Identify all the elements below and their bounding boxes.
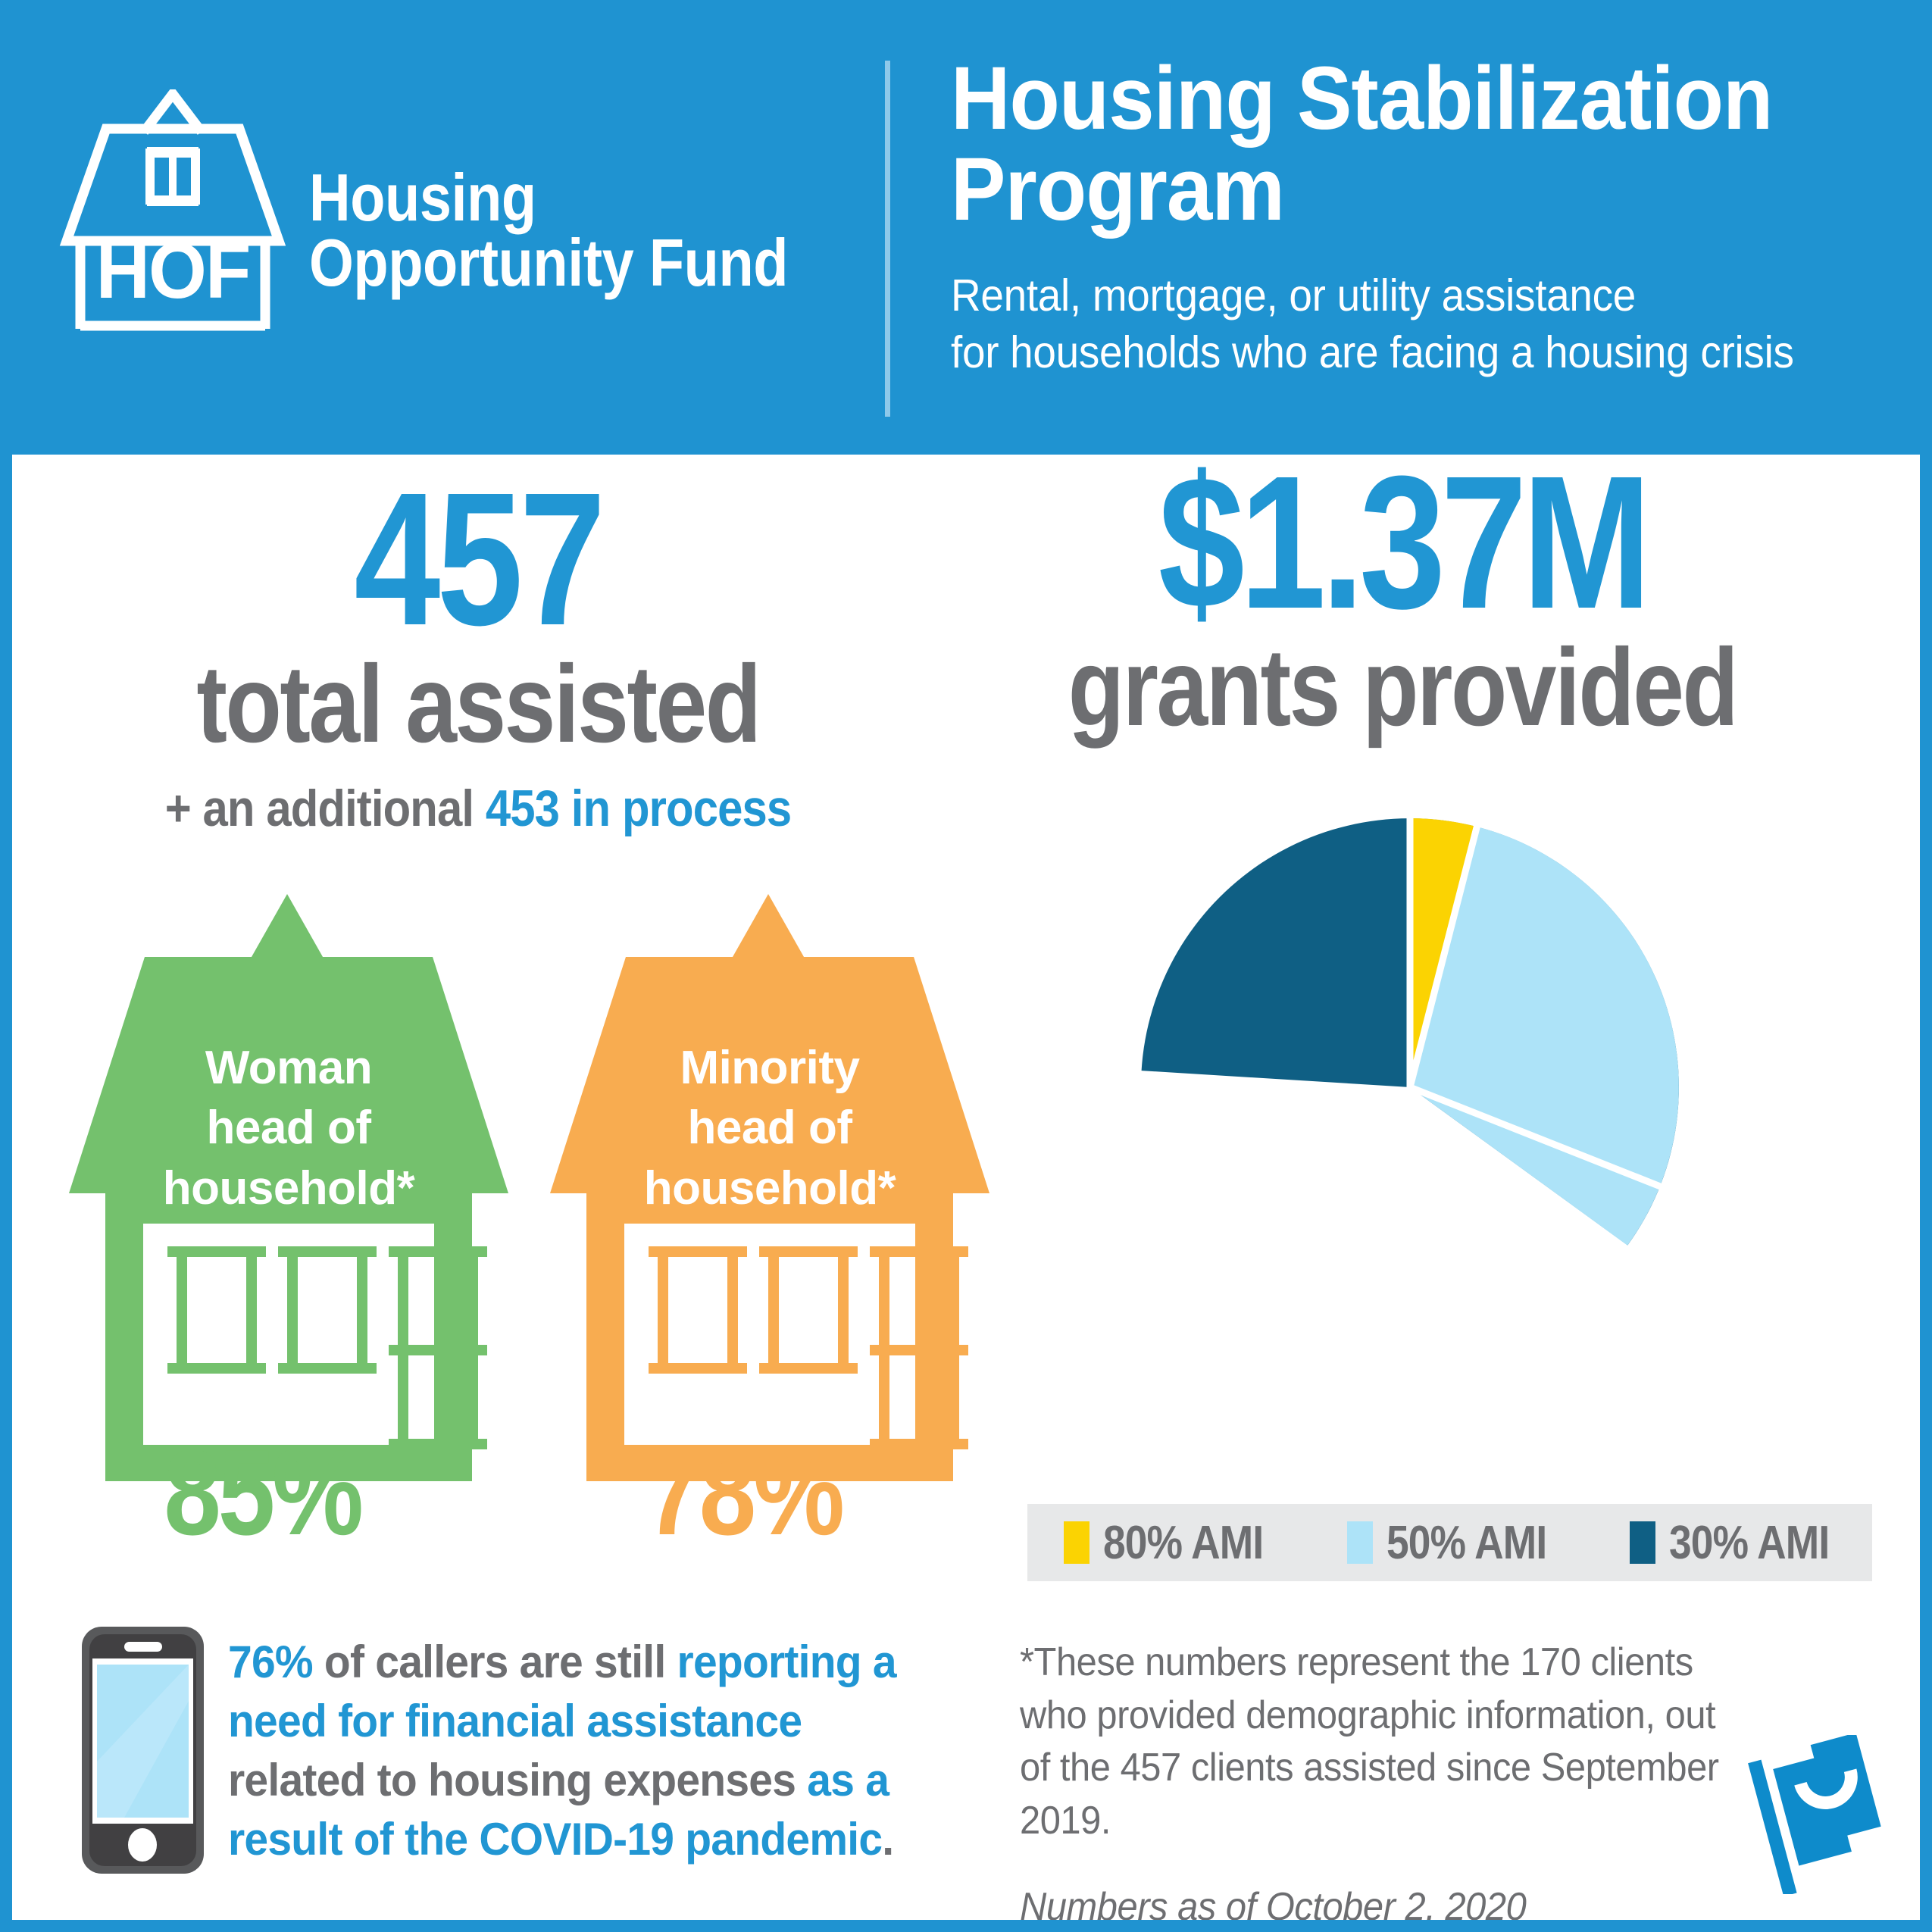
header-vertical-divider — [885, 61, 890, 417]
header-band: HOF Housing Opportunity Fund Housing Sta… — [0, 0, 1932, 455]
legend-item-50-ami: 50% AMI — [1347, 1516, 1573, 1570]
pie-legend: 80% AMI 50% AMI 30% AMI — [1027, 1504, 1872, 1581]
program-subtitle: Rental, mortgage, or utility assistance … — [951, 267, 1824, 382]
header-right-column: Housing Stabilization Program Rental, mo… — [951, 53, 1890, 382]
house-logo-icon: HOF — [59, 89, 286, 332]
legend-label-30-ami: 30% AMI — [1669, 1516, 1829, 1570]
smartphone-icon — [80, 1625, 205, 1875]
legend-swatch-30-ami — [1630, 1521, 1655, 1564]
footnote-as-of: Numbers as of October 2, 2020 — [1020, 1881, 1732, 1920]
legend-swatch-80-ami — [1064, 1521, 1089, 1564]
main-panel: 457 total assisted + an additional 453 i… — [12, 455, 1920, 1920]
ura-flag-logo-icon — [1747, 1735, 1899, 1898]
stat-total-assisted: 457 total assisted + an additional 453 i… — [58, 477, 899, 838]
legend-label-50-ami: 50% AMI — [1386, 1516, 1546, 1570]
percent-minority: 78% — [544, 1432, 943, 1553]
legend-swatch-50-ami — [1347, 1521, 1373, 1564]
callers-callout: 76% of callers are still reporting a nee… — [80, 1625, 974, 1875]
legend-item-80-ami: 80% AMI — [1064, 1516, 1290, 1570]
ami-pie-chart — [921, 799, 1899, 1390]
house-card-woman: Woman head of household* — [54, 890, 524, 1496]
demographic-houses: Woman head of household* Minority head o… — [54, 890, 1001, 1496]
demographic-percentages: 85% 78% — [54, 1432, 1001, 1568]
footnote-block: *These numbers represent the 170 clients… — [1020, 1637, 1777, 1920]
percent-woman: 85% — [63, 1432, 462, 1553]
callers-percent: 76% — [228, 1637, 313, 1687]
house-green-icon — [54, 890, 524, 1496]
infographic-poster: HOF Housing Opportunity Fund Housing Sta… — [0, 0, 1932, 1932]
callout-seg-4: related to housing expenses — [228, 1755, 807, 1805]
callers-callout-text: 76% of callers are still reporting a nee… — [228, 1633, 937, 1869]
in-process-count: 453 in process — [486, 780, 791, 837]
program-title: Housing Stabilization Program — [951, 53, 1815, 236]
in-process-line: + an additional 453 in process — [108, 779, 849, 838]
total-assisted-label: total assisted — [125, 649, 831, 759]
callout-seg-6: . — [882, 1814, 893, 1865]
footnote-asterisk: *These numbers represent the 170 clients… — [1020, 1637, 1732, 1848]
hof-logo-wordmark: Housing Opportunity Fund — [309, 165, 788, 332]
total-assisted-number: 457 — [133, 477, 823, 640]
legend-label-80-ami: 80% AMI — [1103, 1516, 1263, 1570]
hof-logo-text: HOF — [78, 232, 268, 311]
stat-grants-provided: $1.37M grants provided — [914, 461, 1891, 742]
grants-amount: $1.37M — [1002, 461, 1803, 624]
in-process-prefix: + an additional — [165, 780, 486, 837]
callout-seg-2: of callers are still — [313, 1637, 677, 1687]
legend-item-30-ami: 30% AMI — [1630, 1516, 1855, 1570]
hof-logo-lockup: HOF Housing Opportunity Fund — [59, 89, 866, 332]
grants-label: grants provided — [992, 633, 1813, 742]
